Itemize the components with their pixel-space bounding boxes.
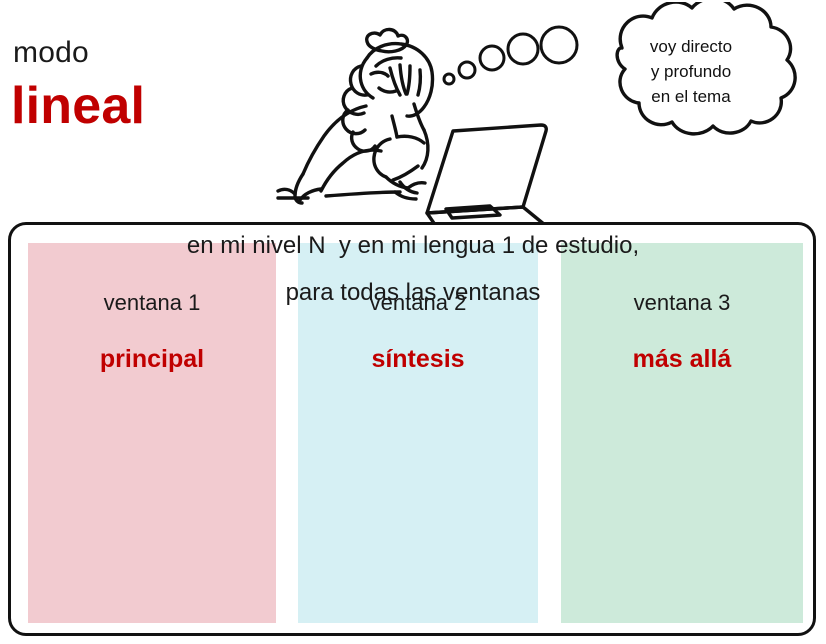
thought-bubble-text: voy directo y profundo en el tema — [560, 34, 822, 109]
heading-modo: modo — [13, 38, 89, 68]
slide-canvas: modo lineal — [0, 0, 826, 644]
window-column-2-keyword: síntesis — [298, 345, 538, 374]
window-column-2[interactable]: ventana 2 síntesis — [298, 243, 538, 623]
window-column-3-keyword: más allá — [561, 345, 803, 374]
window-column-1-keyword: principal — [28, 345, 276, 374]
windows-panel: ventana 1 principal ventana 2 síntesis v… — [8, 222, 816, 636]
thought-bubble-line-1: voy directo — [560, 34, 822, 59]
window-column-1-title: ventana 1 — [28, 290, 276, 316]
windows-columns: ventana 1 principal ventana 2 síntesis v… — [11, 225, 813, 633]
heading-lineal: lineal — [11, 80, 145, 132]
window-column-1[interactable]: ventana 1 principal — [28, 243, 276, 623]
thought-bubble-line-3: en el tema — [560, 84, 822, 109]
window-column-2-title: ventana 2 — [298, 290, 538, 316]
window-column-3-title: ventana 3 — [561, 290, 803, 316]
window-column-3[interactable]: ventana 3 más allá — [561, 243, 803, 623]
thought-bubble-line-2: y profundo — [560, 59, 822, 84]
